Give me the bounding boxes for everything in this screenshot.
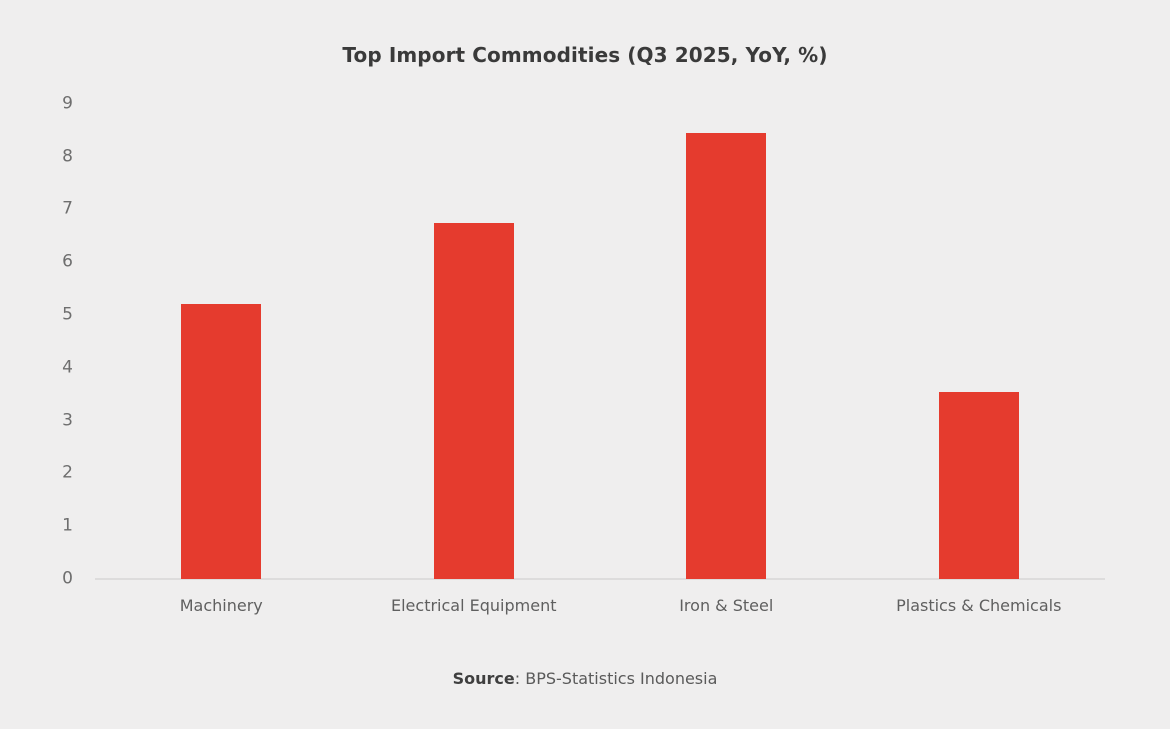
bar[interactable]: [181, 304, 261, 579]
source-note: Source: BPS-Statistics Indonesia: [0, 669, 1170, 688]
source-separator: :: [515, 669, 525, 688]
source-text: BPS-Statistics Indonesia: [525, 669, 717, 688]
x-tick-label: Electrical Equipment: [348, 596, 601, 615]
bar-group: [348, 0, 601, 579]
bar-group: [853, 0, 1106, 579]
x-tick-label: Iron & Steel: [600, 596, 853, 615]
bars-layer: [0, 0, 1170, 579]
bar-group: [600, 0, 853, 579]
bar[interactable]: [434, 223, 514, 579]
x-axis-labels: MachineryElectrical EquipmentIron & Stee…: [0, 596, 1170, 626]
source-label: Source: [453, 669, 515, 688]
bar[interactable]: [686, 133, 766, 579]
bar-group: [95, 0, 348, 579]
x-tick-label: Machinery: [95, 596, 348, 615]
x-tick-label: Plastics & Chemicals: [853, 596, 1106, 615]
bar-chart: Top Import Commodities (Q3 2025, YoY, %)…: [0, 0, 1170, 729]
bar[interactable]: [939, 392, 1019, 579]
